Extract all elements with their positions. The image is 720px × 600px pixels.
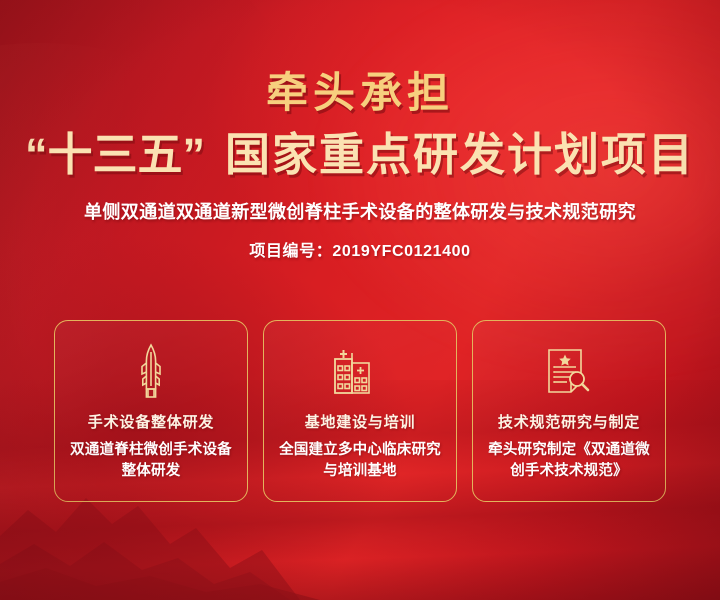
feature-card-title: 手术设备整体研发 [88,411,214,432]
document-magnifier-icon [543,343,595,399]
page-title-program: 国家重点研发计划项目 [225,129,695,180]
feature-card-title: 基地建设与培训 [305,411,416,432]
feature-card-equipment-rd: 手术设备整体研发 双通道脊柱微创手术设备整体研发 [54,320,248,502]
poster-header: 牵头承担 “十三五”国家重点研发计划项目 单侧双通道双通道新型微创脊柱手术设备的… [0,72,720,261]
page-title-line-2: “十三五”国家重点研发计划项目 [0,131,720,178]
page-title-line-1: 牵头承担 [0,72,720,115]
page-subtitle: 单侧双通道双通道新型微创脊柱手术设备的整体研发与技术规范研究 [0,198,720,224]
feature-card-list: 手术设备整体研发 双通道脊柱微创手术设备整体研发 [54,320,666,502]
rocket-icon [134,343,168,399]
feature-card-description: 全国建立多中心临床研究与培训基地 [264,440,456,482]
poster-canvas: 牵头承担 “十三五”国家重点研发计划项目 单侧双通道双通道新型微创脊柱手术设备的… [0,0,720,600]
feature-card-description: 双通道脊柱微创手术设备整体研发 [55,440,247,482]
feature-card-description: 牵头研究制定《双通道微创手术技术规范》 [473,440,665,482]
hospital-building-icon [332,343,388,399]
feature-card-title: 技术规范研究与制定 [498,411,640,432]
page-title-quoted-term: “十三五” [25,129,205,180]
feature-card-technical-standard: 技术规范研究与制定 牵头研究制定《双通道微创手术技术规范》 [472,320,666,502]
feature-card-base-training: 基地建设与培训 全国建立多中心临床研究与培训基地 [263,320,457,502]
project-number: 项目编号：2019YFC0121400 [0,237,720,261]
